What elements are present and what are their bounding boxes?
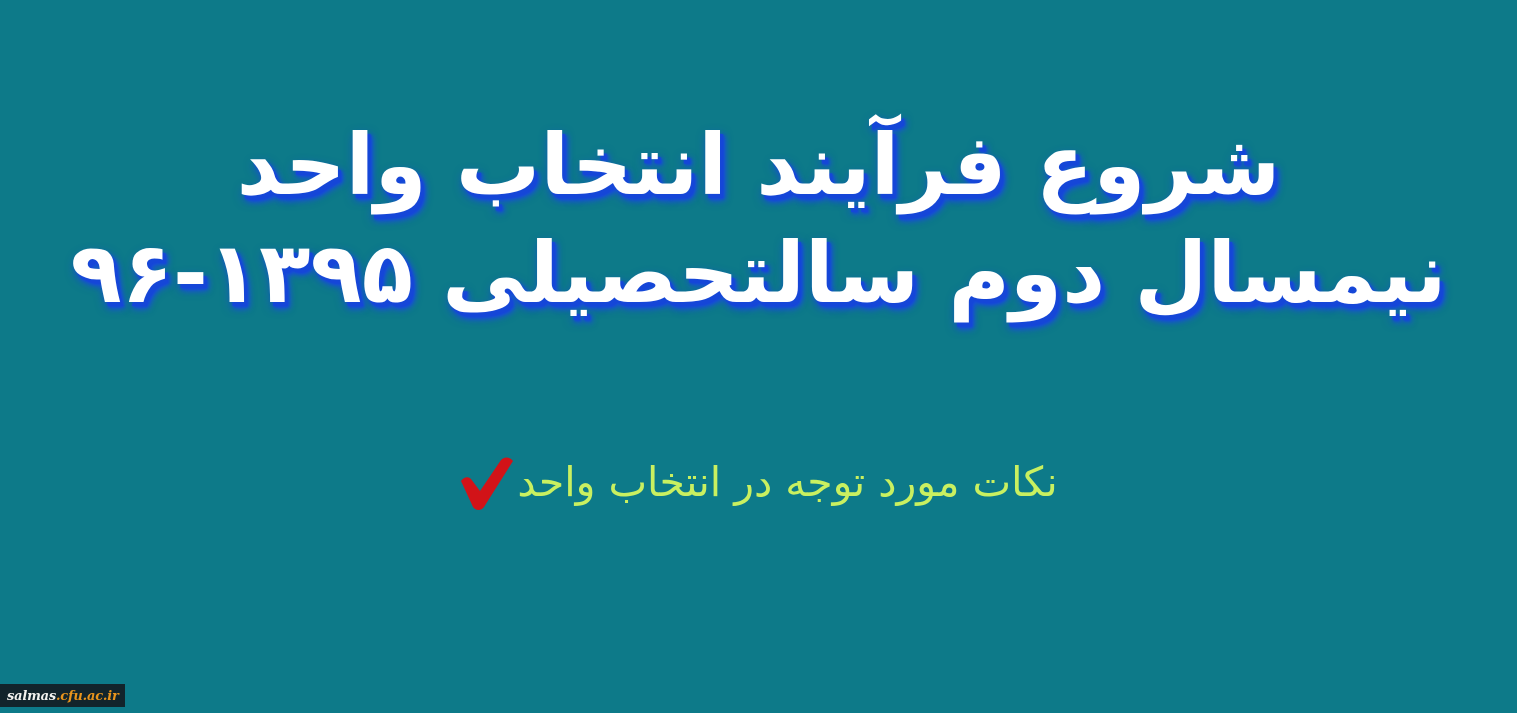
- slide-title: شروع فرآیند انتخاب واحد نیمسال دوم سالتح…: [0, 112, 1517, 327]
- bullet-item: نکات مورد توجه در انتخاب واحد: [0, 455, 1517, 511]
- slide-title-line-2: نیمسال دوم سالتحصیلی ۱۳۹۵-۹۶: [0, 220, 1517, 328]
- slide-title-line-1: شروع فرآیند انتخاب واحد: [0, 112, 1517, 220]
- red-check-icon: [455, 457, 517, 513]
- watermark-site-name: salmas: [7, 689, 56, 704]
- watermark-site-domain: .cfu.ac.ir: [56, 689, 119, 704]
- bullet-item-label: نکات مورد توجه در انتخاب واحد: [517, 457, 1057, 508]
- slide-canvas: شروع فرآیند انتخاب واحد نیمسال دوم سالتح…: [0, 0, 1517, 713]
- watermark: salmas.cfu.ac.ir: [0, 684, 125, 707]
